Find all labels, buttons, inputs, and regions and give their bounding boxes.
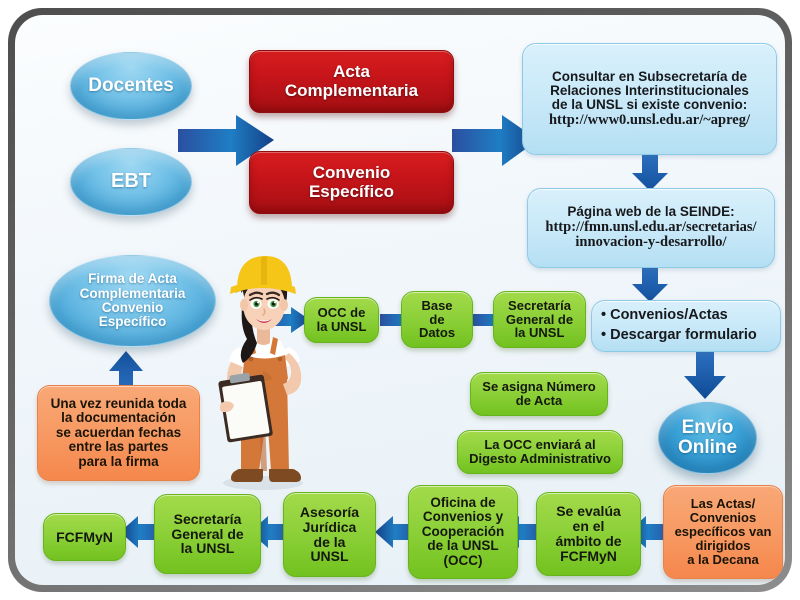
node-las-actas-line1: Las Actas/ — [675, 497, 772, 511]
node-acta-complementaria-line1: Acta — [285, 63, 418, 81]
node-acta-complementaria[interactable]: Acta Complementaria — [249, 50, 454, 113]
node-las-actas-line2: Convenios — [675, 511, 772, 525]
female-worker-illustration — [201, 243, 321, 491]
outer-frame: Docentes EBT Acta Complementaria Conveni… — [8, 8, 792, 592]
node-occ-unsl-line1: OCC de — [317, 306, 367, 320]
node-convenio-especifico-line2: Específico — [309, 183, 394, 201]
node-secretaria-mid-line3: la UNSL — [506, 326, 573, 340]
node-consultar-url[interactable]: http://www0.unsl.edu.ar/~apreg/ — [549, 113, 750, 129]
node-convenios-bullet2: • Descargar formulario — [601, 326, 757, 346]
node-fcfmyn-label: FCFMyN — [56, 530, 113, 545]
node-pagina-seinde[interactable]: Página web de la SEINDE: http://fmn.unsl… — [527, 188, 775, 268]
diagram-inner-surface: Docentes EBT Acta Complementaria Conveni… — [15, 15, 785, 585]
node-convenio-especifico[interactable]: Convenio Específico — [249, 151, 454, 214]
node-convenios-bullet1: • Convenios/Actas — [601, 306, 757, 326]
node-asesoria-line2: Jurídica — [300, 520, 359, 535]
node-base-datos-line3: Datos — [419, 326, 455, 340]
node-acta-complementaria-line2: Complementaria — [285, 82, 418, 100]
node-firma-acta[interactable]: Firma de Acta Complementaria Convenio Es… — [49, 255, 216, 347]
node-una-vez-reunida[interactable]: Una vez reunida toda la documentación se… — [37, 385, 200, 481]
node-seinde-url1[interactable]: http://fmn.unsl.edu.ar/secretarias/ — [545, 220, 756, 236]
node-oficina-occ-line5: (OCC) — [422, 554, 505, 568]
node-seinde-url2[interactable]: innovacion-y-desarrollo/ — [545, 235, 756, 251]
node-secretaria-general-mid[interactable]: Secretaría General de la UNSL — [493, 291, 586, 348]
node-base-datos-line1: Base — [419, 299, 455, 313]
node-asesoria-line3: de la — [300, 535, 359, 550]
node-las-actas-line4: dirigidos — [675, 539, 772, 553]
arrow-seinde-to-convenios — [631, 265, 669, 303]
node-firma-line3: Convenio — [80, 301, 186, 315]
node-se-evalua-line2: en el — [555, 519, 621, 534]
node-secretaria-bottom-line1: Secretaría — [171, 512, 243, 527]
node-se-evalua-line1: Se evalúa — [555, 504, 621, 519]
node-numero-acta-line1: Se asigna Número — [482, 380, 595, 394]
node-consultar-line1: Consultar en Subsecretaría de — [549, 70, 750, 84]
node-secretaria-bottom-line2: General de — [171, 527, 243, 542]
node-seinde-line1: Página web de la SEINDE: — [545, 205, 756, 219]
node-firma-line2: Complementaria — [80, 287, 186, 301]
node-convenios-descargar[interactable]: • Convenios/Actas • Descargar formulario — [591, 300, 781, 352]
node-se-evalua[interactable]: Se evalúa en el ámbito de FCFMyN — [536, 492, 641, 576]
node-oficina-occ-line1: Oficina de — [422, 496, 505, 510]
node-oficina-occ-line2: Convenios y — [422, 510, 505, 524]
node-asesoria-line4: UNSL — [300, 549, 359, 564]
node-fcfmyn[interactable]: FCFMyN — [43, 513, 126, 561]
node-docentes[interactable]: Docentes — [70, 52, 192, 120]
node-secretaria-bottom-line3: la UNSL — [171, 541, 243, 556]
node-las-actas-line3: específicos van — [675, 525, 772, 539]
node-asesoria-line1: Asesoría — [300, 505, 359, 520]
node-reunida-line5: para la firma — [51, 455, 187, 469]
node-base-datos-line2: de — [419, 313, 455, 327]
node-numero-acta-line2: de Acta — [482, 394, 595, 408]
node-consultar-line2: Relaciones Interinstitucionales — [549, 84, 750, 98]
node-digesto-line1: La OCC enviará al — [469, 438, 611, 452]
node-consultar-subsecretaria[interactable]: Consultar en Subsecretaría de Relaciones… — [522, 43, 777, 155]
node-docentes-label: Docentes — [88, 76, 174, 96]
node-secretaria-general-bottom[interactable]: Secretaría General de la UNSL — [154, 494, 261, 574]
node-digesto[interactable]: La OCC enviará al Digesto Administrativo — [457, 430, 623, 474]
node-digesto-line2: Digesto Administrativo — [469, 452, 611, 466]
node-occ-unsl-line2: la UNSL — [317, 320, 367, 334]
node-asesoria-juridica[interactable]: Asesoría Jurídica de la UNSL — [283, 492, 376, 577]
node-secretaria-mid-line2: General de — [506, 313, 573, 327]
node-envio-line1: Envío — [678, 418, 737, 438]
node-base-datos[interactable]: Base de Datos — [401, 291, 473, 348]
node-consultar-line3: de la UNSL si existe convenio: — [549, 98, 750, 112]
node-convenio-especifico-line1: Convenio — [309, 164, 394, 182]
diagram-canvas: Docentes EBT Acta Complementaria Conveni… — [0, 0, 800, 600]
node-oficina-occ-line4: de la UNSL — [422, 539, 505, 553]
arrow-consultar-to-seinde — [631, 154, 669, 192]
node-reunida-line4: entre las partes — [51, 440, 187, 454]
node-se-evalua-line3: ámbito de — [555, 534, 621, 549]
node-oficina-occ-line3: Cooperación — [422, 525, 505, 539]
node-reunida-line2: la documentación — [51, 411, 187, 425]
node-las-actas[interactable]: Las Actas/ Convenios específicos van dir… — [663, 485, 783, 579]
node-oficina-occ[interactable]: Oficina de Convenios y Cooperación de la… — [408, 485, 518, 579]
node-numero-acta[interactable]: Se asigna Número de Acta — [470, 372, 608, 416]
node-reunida-line3: se acuerdan fechas — [51, 426, 187, 440]
node-las-actas-line5: a la Decana — [675, 553, 772, 567]
node-ebt[interactable]: EBT — [70, 148, 192, 216]
node-se-evalua-line4: FCFMyN — [555, 549, 621, 564]
node-secretaria-mid-line1: Secretaría — [506, 299, 573, 313]
node-envio-online[interactable]: Envío Online — [658, 402, 757, 474]
node-firma-line1: Firma de Acta — [80, 272, 186, 286]
node-reunida-line1: Una vez reunida toda — [51, 397, 187, 411]
arrow-convenios-to-envio — [683, 352, 727, 400]
node-envio-line2: Online — [678, 438, 737, 458]
node-firma-line4: Específico — [80, 315, 186, 329]
node-ebt-label: EBT — [111, 171, 151, 192]
